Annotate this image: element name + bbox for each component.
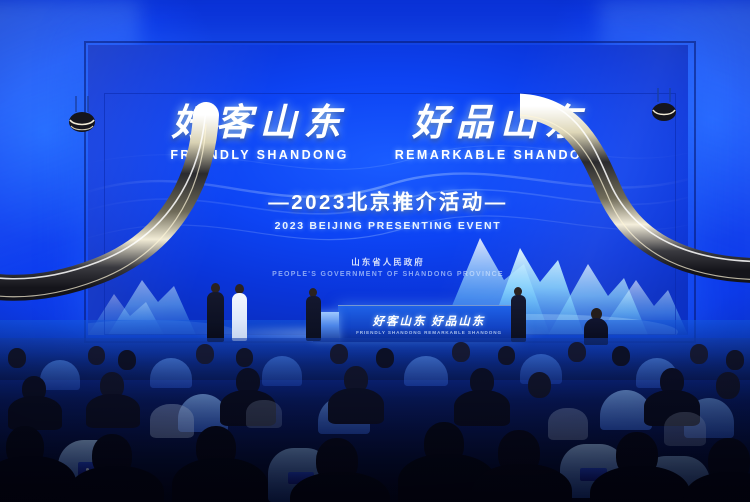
photo-vignette: [0, 0, 750, 502]
event-stage-photo: 好客山东 FRIENDLY SHANDONG 好品山东 REMARKABLE S…: [0, 0, 750, 502]
